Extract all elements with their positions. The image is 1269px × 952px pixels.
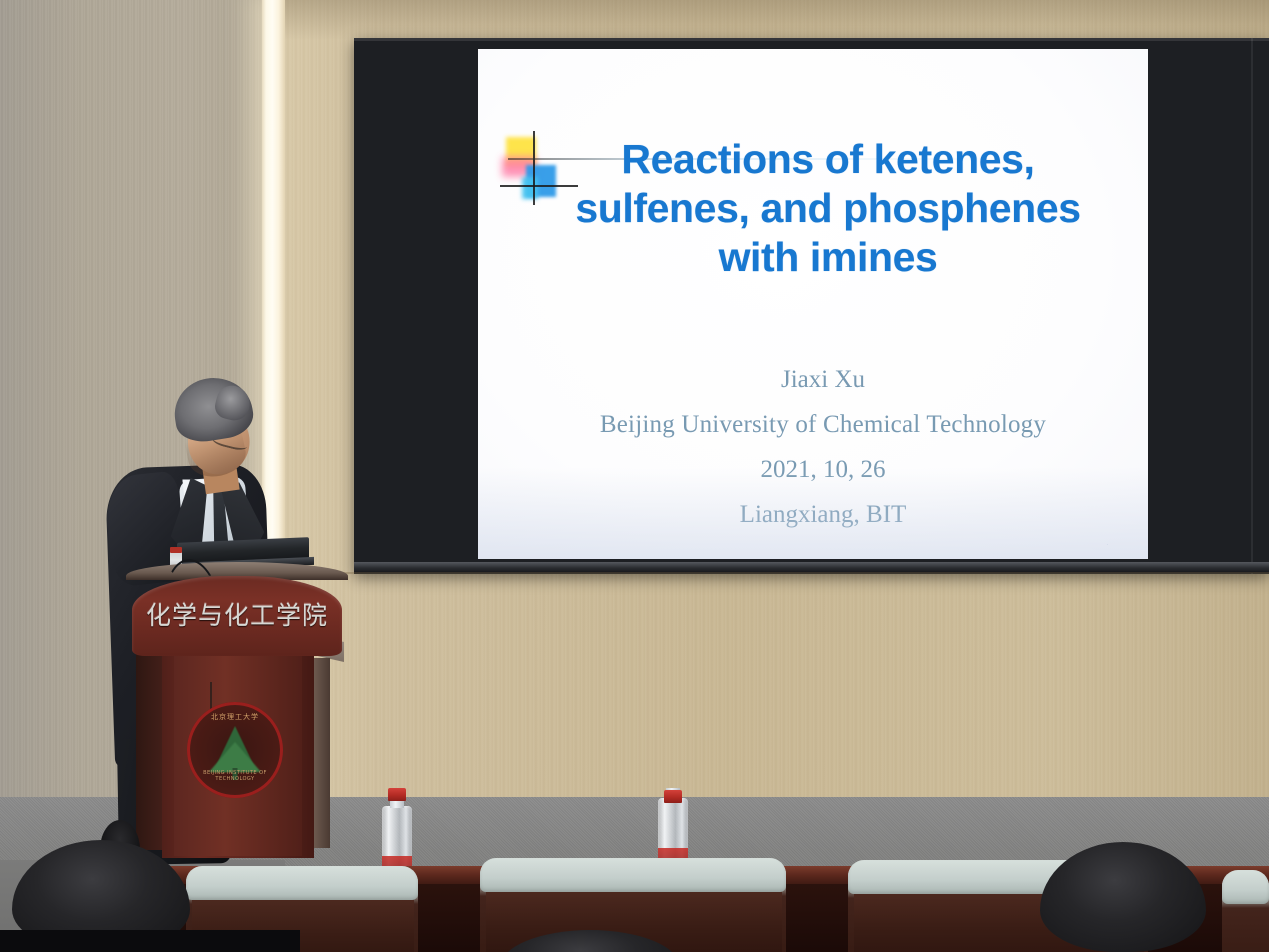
ceiling-shadow	[285, 0, 1269, 40]
projected-slide: Reactions of ketenes, sulfenes, and phos…	[478, 49, 1148, 559]
screen-frame-seam	[1251, 38, 1253, 574]
audience-chair-headrest	[1222, 870, 1269, 904]
slide-subtitle: Jiaxi Xu Beijing University of Chemical …	[498, 357, 1148, 537]
crest-ring-text-bottom: BEIJING INSTITUTE OF TECHNOLOGY	[187, 770, 283, 782]
slide-title-line-1: Reactions of ketenes,	[524, 135, 1132, 184]
audience-chair-headrest	[186, 866, 418, 900]
audience-chair-headrest	[480, 858, 786, 892]
slide-title-line-2: sulfenes, and phosphenes	[524, 184, 1132, 233]
lecture-hall-photo: Reactions of ketenes, sulfenes, and phos…	[0, 0, 1269, 952]
slide-location: Liangxiang, BIT	[498, 492, 1148, 537]
slide-date: 2021, 10, 26	[498, 447, 1148, 492]
lectern-water-bottle-cap	[170, 547, 182, 553]
lectern-side-right	[314, 658, 330, 848]
slide-title: Reactions of ketenes, sulfenes, and phos…	[524, 135, 1132, 282]
water-bottle-cap	[664, 790, 682, 803]
lectern-front-panel: 化学与化工学院	[132, 576, 342, 656]
screen-frame-highlight	[354, 38, 1269, 41]
crest-ring-text-top: 北京理工大学	[187, 712, 283, 722]
slide-affiliation: Beijing University of Chemical Technolog…	[498, 402, 1148, 447]
wall-panel-seam	[285, 572, 1269, 574]
slide-page-number: .	[1107, 541, 1109, 547]
foreground-shadow	[0, 930, 300, 952]
slide-author: Jiaxi Xu	[498, 357, 1148, 402]
slide-title-line-3: with imines	[524, 233, 1132, 282]
beijing-institute-of-technology-crest-icon: 北京理工大学 BEIJING INSTITUTE OF TECHNOLOGY	[187, 702, 283, 798]
lectern: 化学与化工学院 北京理工大学 BEIJING INSTITUTE OF TECH…	[126, 562, 348, 862]
water-bottle-cap	[388, 788, 406, 801]
